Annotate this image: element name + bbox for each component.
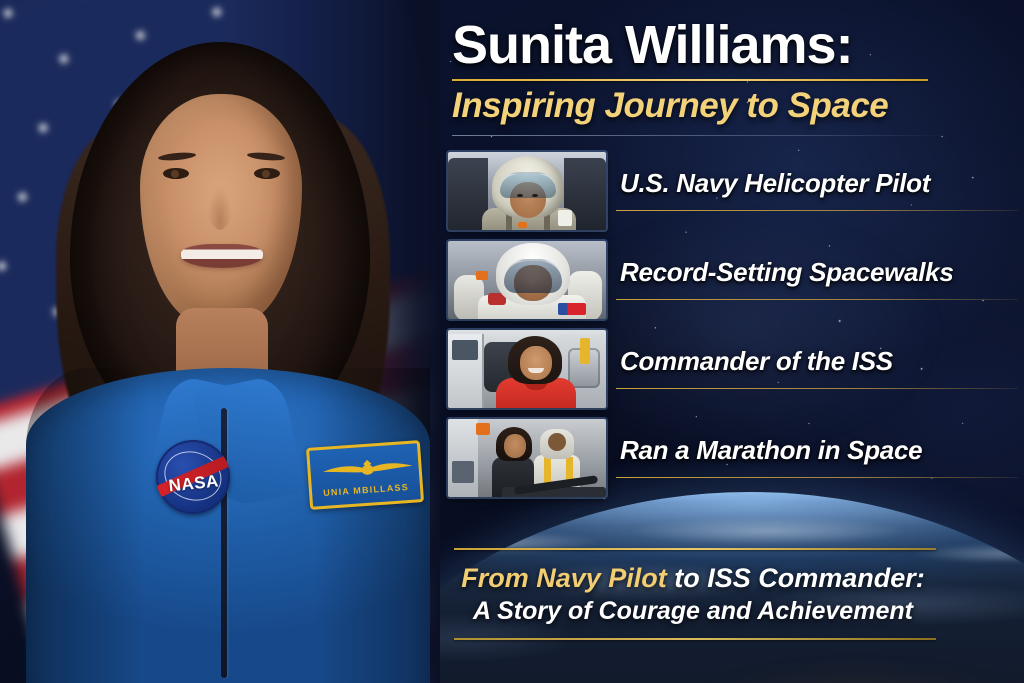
nose <box>208 184 232 230</box>
achievement-divider <box>616 210 1018 211</box>
achievement-thumbnail <box>448 152 606 230</box>
treadmill-illustration <box>448 419 606 497</box>
suit-zipper <box>221 408 227 678</box>
list-item: Commander of the ISS <box>448 330 1018 419</box>
list-item: U.S. Navy Helicopter Pilot <box>448 152 1018 241</box>
tagline-line-2: A Story of Courage and Achievement <box>450 597 936 626</box>
astronaut-portrait: NASA UNIA MBILLASS <box>18 16 438 683</box>
mouth <box>181 244 263 268</box>
eye-left <box>163 168 189 179</box>
page-title: Sunita Williams: <box>452 18 952 72</box>
subtitle-divider <box>452 135 952 136</box>
achievements-list: U.S. Navy Helicopter Pilot <box>448 152 1018 508</box>
name-tag-label: UNIA MBILLASS <box>312 481 420 499</box>
achievement-divider <box>616 477 1018 478</box>
infographic-poster: NASA UNIA MBILLASS Sunita Williams: Insp… <box>0 0 1024 683</box>
achievement-divider <box>616 388 1018 389</box>
tagline-divider-top <box>454 548 936 550</box>
flight-suit-name-tag: UNIA MBILLASS <box>306 440 424 510</box>
tagline-divider-bottom <box>454 638 936 640</box>
tagline-rest: to ISS Commander: <box>667 563 925 593</box>
achievement-thumbnail <box>448 241 606 319</box>
list-item: Ran a Marathon in Space <box>448 419 1018 508</box>
achievement-divider <box>616 299 1018 300</box>
tagline-line-1: From Navy Pilot to ISS Commander: <box>450 563 936 593</box>
content-panel: Sunita Williams: Inspiring Journey to Sp… <box>440 0 1024 683</box>
iss-module-illustration <box>448 330 606 408</box>
suit-shadow-right <box>314 368 430 683</box>
tagline-block: From Navy Pilot to ISS Commander: A Stor… <box>450 548 1014 640</box>
eye-right <box>254 168 280 179</box>
achievement-label: Record-Setting Spacewalks <box>620 257 1016 288</box>
title-block: Sunita Williams: Inspiring Journey to Sp… <box>452 18 952 136</box>
achievement-thumbnail <box>448 419 606 497</box>
achievement-label: U.S. Navy Helicopter Pilot <box>620 168 1016 199</box>
title-divider <box>452 79 928 81</box>
achievement-label: Ran a Marathon in Space <box>620 435 1016 466</box>
achievement-label: Commander of the ISS <box>620 346 1016 377</box>
achievement-thumbnail <box>448 330 606 408</box>
aviator-wings-icon <box>318 453 417 484</box>
list-item: Record-Setting Spacewalks <box>448 241 1018 330</box>
pilot-cockpit-illustration <box>448 152 606 230</box>
page-subtitle: Inspiring Journey to Space <box>452 88 952 125</box>
suit-shadow-left <box>26 368 146 683</box>
tagline-highlight: From Navy Pilot <box>461 563 667 593</box>
spacesuit-illustration <box>448 241 606 319</box>
